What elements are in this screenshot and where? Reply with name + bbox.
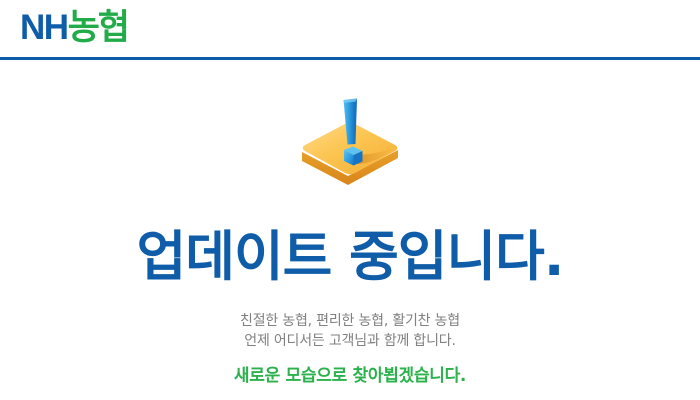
update-icon-container (0, 92, 700, 200)
nh-nonghyup-logo[interactable]: NH농협 (20, 9, 128, 47)
page-header: NH농협 (0, 0, 700, 60)
page-title: 업데이트 중입니다. (0, 226, 700, 288)
logo-latin-text: NH (20, 8, 68, 47)
subtitle-line-1: 친절한 농협, 편리한 농협, 활기찬 농협 (0, 311, 700, 331)
logo-korean-text: 농협 (68, 8, 128, 48)
subtitle-line-2: 언제 어디서든 고객님과 함께 합니다. (0, 331, 700, 351)
closing-message: 새로운 모습으로 찾아뵙겠습니다. (0, 364, 700, 388)
subtitle-block: 친절한 농협, 편리한 농협, 활기찬 농협 언제 어디서든 고객님과 함께 합… (0, 311, 700, 351)
header-divider (0, 57, 700, 60)
update-exclamation-icon (298, 92, 402, 196)
